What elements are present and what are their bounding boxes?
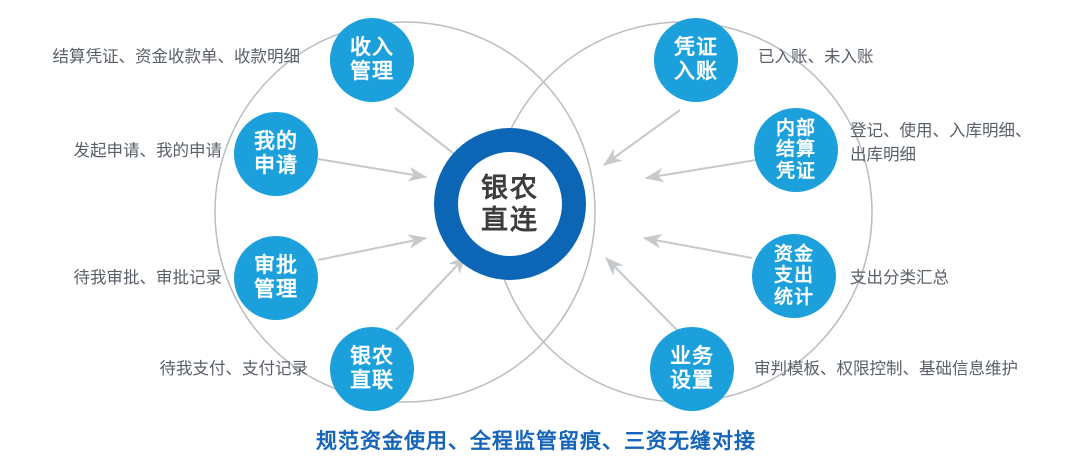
node-voucher-entry[interactable]: 凭证 入账 [654, 18, 738, 102]
hub-ring: 银农 直连 [434, 128, 586, 280]
node-bank-farm-direct-line-2: 直联 [350, 369, 394, 393]
node-internal-settlement-voucher-line-3: 凭证 [776, 161, 816, 183]
caption-approval-management-line-1: 待我审批、审批记录 [0, 267, 222, 291]
node-income-management-line-2: 管理 [350, 60, 394, 84]
footer-slogan: 规范资金使用、全程监管留痕、三资无缝对接 [0, 425, 1072, 455]
arrow-business-settings [606, 258, 678, 331]
caption-fund-expenditure-statistics: 支出分类汇总 [850, 267, 949, 291]
arrow-internal-settlement-voucher [646, 160, 756, 178]
caption-income-management: 结算凭证、资金收款单、收款明细 [0, 46, 300, 70]
node-bank-farm-direct[interactable]: 银农 直联 [330, 327, 414, 411]
node-voucher-entry-line-1: 凭证 [674, 36, 718, 60]
node-business-settings[interactable]: 业务 设置 [650, 327, 734, 411]
node-income-management-line-1: 收入 [350, 36, 394, 60]
node-approval-management[interactable]: 审批 管理 [234, 236, 318, 320]
caption-internal-settlement-voucher: 登记、使用、入库明细、 出库明细 [850, 120, 1032, 168]
caption-internal-settlement-voucher-line-2: 出库明细 [850, 144, 1032, 168]
node-fund-expenditure-statistics-line-2: 支出 [774, 265, 814, 287]
caption-business-settings: 审判模板、权限控制、基础信息维护 [754, 358, 1018, 382]
node-my-application[interactable]: 我的 申请 [234, 112, 318, 196]
hub-label: 银农 直连 [458, 152, 562, 256]
node-internal-settlement-voucher-line-2: 结算 [776, 139, 816, 161]
caption-internal-settlement-voucher-line-1: 登记、使用、入库明细、 [850, 120, 1032, 144]
caption-fund-expenditure-statistics-line-1: 支出分类汇总 [850, 267, 949, 291]
caption-voucher-entry: 已入账、未入账 [758, 46, 874, 70]
caption-approval-management: 待我审批、审批记录 [0, 267, 222, 291]
diagram-canvas: 银农 直连 收入 管理 我的 申请 审批 管理 银农 直联 凭证 入账 内部 结… [0, 0, 1072, 471]
caption-bank-farm-direct-line-1: 待我支付、支付记录 [0, 358, 308, 382]
arrow-approval-management [318, 238, 426, 260]
node-my-application-line-1: 我的 [254, 130, 298, 154]
node-fund-expenditure-statistics[interactable]: 资金 支出 统计 [752, 234, 836, 318]
node-income-management[interactable]: 收入 管理 [330, 18, 414, 102]
caption-business-settings-line-1: 审判模板、权限控制、基础信息维护 [754, 358, 1018, 382]
arrow-my-application [318, 159, 426, 177]
caption-voucher-entry-line-1: 已入账、未入账 [758, 46, 874, 70]
node-voucher-entry-line-2: 入账 [674, 60, 718, 84]
node-internal-settlement-voucher-line-1: 内部 [776, 118, 816, 140]
node-approval-management-line-1: 审批 [254, 254, 298, 278]
arrow-bank-farm-direct [396, 256, 466, 330]
arrow-voucher-entry [604, 110, 680, 165]
node-fund-expenditure-statistics-line-1: 资金 [774, 244, 814, 266]
hub-label-line-1: 银农 [481, 172, 539, 204]
node-internal-settlement-voucher[interactable]: 内部 结算 凭证 [754, 108, 838, 192]
node-approval-management-line-2: 管理 [254, 278, 298, 302]
caption-my-application-line-1: 发起申请、我的申请 [0, 140, 222, 164]
caption-bank-farm-direct: 待我支付、支付记录 [0, 358, 308, 382]
caption-my-application: 发起申请、我的申请 [0, 140, 222, 164]
node-business-settings-line-1: 业务 [670, 345, 714, 369]
node-fund-expenditure-statistics-line-3: 统计 [774, 287, 814, 309]
node-business-settings-line-2: 设置 [670, 369, 714, 393]
node-my-application-line-2: 申请 [254, 154, 298, 178]
arrow-fund-expenditure-statistics [644, 238, 752, 258]
hub-label-line-2: 直连 [481, 204, 539, 236]
node-bank-farm-direct-line-1: 银农 [350, 345, 394, 369]
caption-income-management-line-1: 结算凭证、资金收款单、收款明细 [0, 46, 300, 70]
